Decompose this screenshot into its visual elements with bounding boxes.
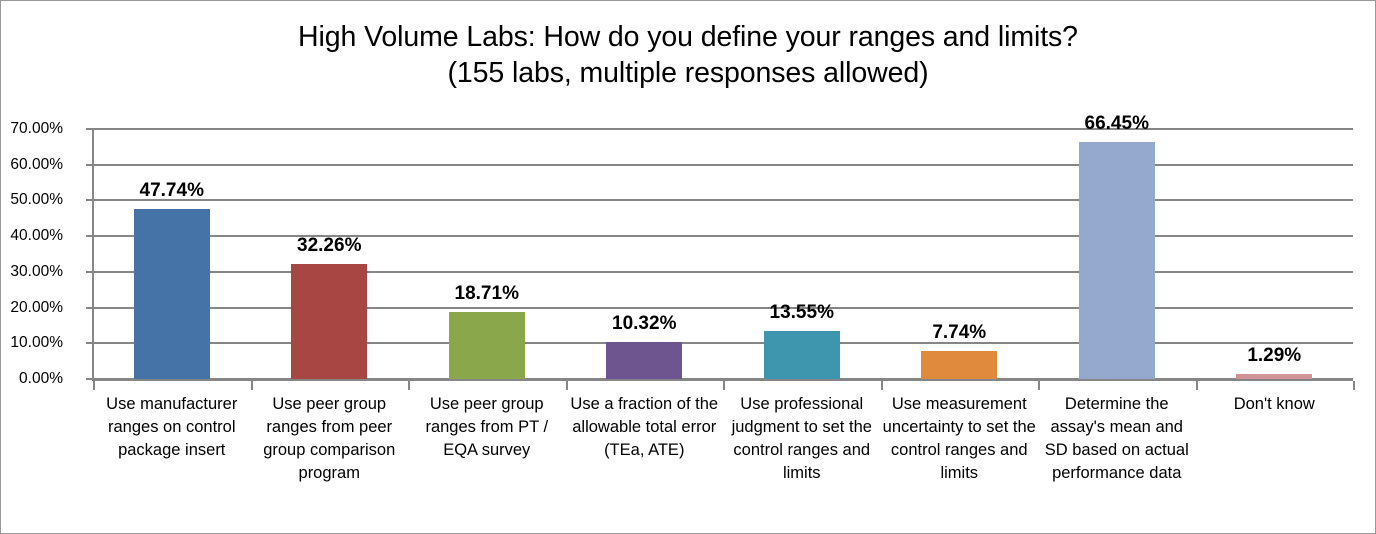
x-axis-tick-mark <box>881 381 883 390</box>
x-axis-tick-mark <box>1353 381 1355 390</box>
y-axis-tick-mark <box>86 128 93 130</box>
y-axis-tick-label: 10.00% <box>0 334 63 352</box>
bar-group[interactable]: 18.71% <box>408 129 566 379</box>
y-axis-tick-label: 60.00% <box>0 156 63 174</box>
category-label: Use measurement uncertainty to set the c… <box>881 393 1039 485</box>
plot-area: 70.00%60.00%50.00%40.00%30.00%20.00%10.0… <box>93 129 1353 379</box>
category-label: Use professional judgment to set the con… <box>723 393 881 485</box>
bar-group[interactable]: 1.29% <box>1196 129 1354 379</box>
category-axis-labels: Use manufacturer ranges on control packa… <box>93 393 1353 533</box>
bar-group[interactable]: 47.74% <box>93 129 251 379</box>
bar-value-label: 13.55% <box>770 302 834 324</box>
bar[interactable] <box>134 209 210 380</box>
y-axis-tick-label: 20.00% <box>0 299 63 317</box>
chart-title-line1: High Volume Labs: How do you define your… <box>298 21 1078 53</box>
x-axis-tick-mark <box>566 381 568 390</box>
category-label: Use manufacturer ranges on control packa… <box>93 393 251 462</box>
bar[interactable] <box>1236 374 1312 379</box>
x-axis-tick-mark <box>723 381 725 390</box>
bar[interactable] <box>291 264 367 379</box>
bar-group[interactable]: 13.55% <box>723 129 881 379</box>
bar[interactable] <box>449 312 525 379</box>
bar-value-label: 66.45% <box>1085 113 1149 135</box>
bar-group[interactable]: 10.32% <box>566 129 724 379</box>
y-axis-tick-label: 40.00% <box>0 227 63 245</box>
bar-group[interactable]: 66.45% <box>1038 129 1196 379</box>
bar[interactable] <box>921 351 997 379</box>
y-axis-tick-mark <box>86 307 93 309</box>
y-axis-tick-mark <box>86 342 93 344</box>
bar[interactable] <box>764 331 840 379</box>
bar-value-label: 32.26% <box>297 235 361 257</box>
y-axis-tick-mark <box>86 271 93 273</box>
y-axis-tick-mark <box>86 164 93 166</box>
bar-group[interactable]: 32.26% <box>251 129 409 379</box>
y-axis-tick-label: 50.00% <box>0 191 63 209</box>
y-axis-tick-mark <box>86 199 93 201</box>
category-label: Use a fraction of the allowable total er… <box>566 393 724 462</box>
category-label: Don't know <box>1196 393 1354 416</box>
y-axis-tick-label: 30.00% <box>0 263 63 281</box>
category-label: Determine the assay's mean and SD based … <box>1038 393 1196 485</box>
category-label: Use peer group ranges from peer group co… <box>251 393 409 485</box>
bar-value-label: 47.74% <box>140 180 204 202</box>
x-axis-tick-mark <box>251 381 253 390</box>
bar-chart: High Volume Labs: How do you define your… <box>0 0 1376 534</box>
chart-title: High Volume Labs: How do you define your… <box>1 19 1375 91</box>
bar-value-label: 1.29% <box>1247 345 1301 367</box>
x-axis-tick-mark <box>1196 381 1198 390</box>
y-axis-tick-mark <box>86 378 93 380</box>
x-axis-tick-mark <box>93 381 95 390</box>
category-label: Use peer group ranges from PT / EQA surv… <box>408 393 566 462</box>
chart-subtitle: (155 labs, multiple responses allowed) <box>1 55 1375 91</box>
y-axis-tick-label: 70.00% <box>0 120 63 138</box>
bar-value-label: 7.74% <box>932 322 986 344</box>
y-axis-tick-mark <box>86 235 93 237</box>
y-axis-tick-label: 0.00% <box>0 370 63 388</box>
bar-value-label: 10.32% <box>612 313 676 335</box>
bar[interactable] <box>1079 142 1155 379</box>
x-axis-tick-mark <box>408 381 410 390</box>
bar-value-label: 18.71% <box>455 283 519 305</box>
bar[interactable] <box>606 342 682 379</box>
bar-group[interactable]: 7.74% <box>881 129 1039 379</box>
x-axis-tick-mark <box>1038 381 1040 390</box>
